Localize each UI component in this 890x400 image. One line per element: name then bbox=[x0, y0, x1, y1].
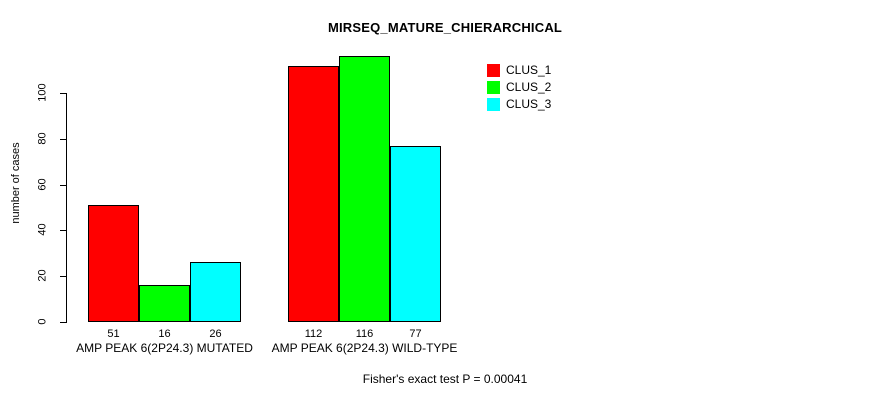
y-axis-tick-text: 60 bbox=[38, 172, 49, 196]
group-label-2: AMP PEAK 6(2P24.3) WILD-TYPE bbox=[260, 341, 469, 355]
legend-label: CLUS_1 bbox=[506, 64, 551, 77]
y-axis-tick bbox=[60, 139, 66, 140]
legend-swatch-icon bbox=[487, 98, 500, 111]
legend: CLUS_1CLUS_2CLUS_3 bbox=[487, 62, 551, 113]
legend-item: CLUS_3 bbox=[487, 96, 551, 113]
bar-clus_1-group1 bbox=[88, 205, 139, 322]
bar-value-label: 51 bbox=[88, 328, 139, 340]
y-axis-tick bbox=[60, 93, 66, 94]
bar-clus_3-group1 bbox=[190, 262, 241, 322]
y-axis-tick-label: 40 bbox=[30, 224, 56, 236]
chart-canvas: MIRSEQ_MATURE_CHIERARCHICAL 020406080100… bbox=[0, 0, 890, 400]
legend-swatch-icon bbox=[487, 81, 500, 94]
y-axis-title: number of cases bbox=[10, 123, 22, 243]
bar-clus_2-group1 bbox=[139, 285, 190, 322]
bar-value-label: 26 bbox=[190, 328, 241, 340]
y-axis-tick-text: 100 bbox=[38, 81, 49, 105]
y-axis-tick bbox=[60, 322, 66, 323]
legend-label: CLUS_3 bbox=[506, 98, 551, 111]
y-axis-tick bbox=[60, 276, 66, 277]
bar-value-label: 77 bbox=[390, 328, 441, 340]
plot-area: 020406080100 number of cases 51162611211… bbox=[0, 0, 890, 400]
bar-clus_2-group2 bbox=[339, 56, 390, 322]
y-axis-tick-label: 20 bbox=[30, 270, 56, 282]
bar-value-label: 116 bbox=[339, 328, 390, 340]
y-axis-tick-label: 60 bbox=[30, 179, 56, 191]
bar-clus_3-group2 bbox=[390, 146, 441, 322]
bar-value-label: 16 bbox=[139, 328, 190, 340]
legend-label: CLUS_2 bbox=[506, 81, 551, 94]
group-label-1: AMP PEAK 6(2P24.3) MUTATED bbox=[60, 341, 269, 355]
y-axis-tick-text: 80 bbox=[38, 126, 49, 150]
legend-swatch-icon bbox=[487, 64, 500, 77]
statistical-annotation: Fisher's exact test P = 0.00041 bbox=[0, 372, 890, 386]
bar-clus_1-group2 bbox=[288, 66, 339, 322]
bar-value-label: 112 bbox=[288, 328, 339, 340]
y-axis-tick bbox=[60, 230, 66, 231]
y-axis-tick bbox=[60, 185, 66, 186]
legend-item: CLUS_1 bbox=[487, 62, 551, 79]
y-axis-tick-text: 40 bbox=[38, 218, 49, 242]
y-axis-tick-text: 20 bbox=[38, 264, 49, 288]
y-axis-tick-label: 100 bbox=[30, 87, 56, 99]
legend-item: CLUS_2 bbox=[487, 79, 551, 96]
y-axis-line bbox=[66, 93, 67, 323]
y-axis-tick-text: 0 bbox=[38, 310, 49, 334]
y-axis-tick-label: 80 bbox=[30, 133, 56, 145]
y-axis-tick-label: 0 bbox=[30, 316, 56, 328]
